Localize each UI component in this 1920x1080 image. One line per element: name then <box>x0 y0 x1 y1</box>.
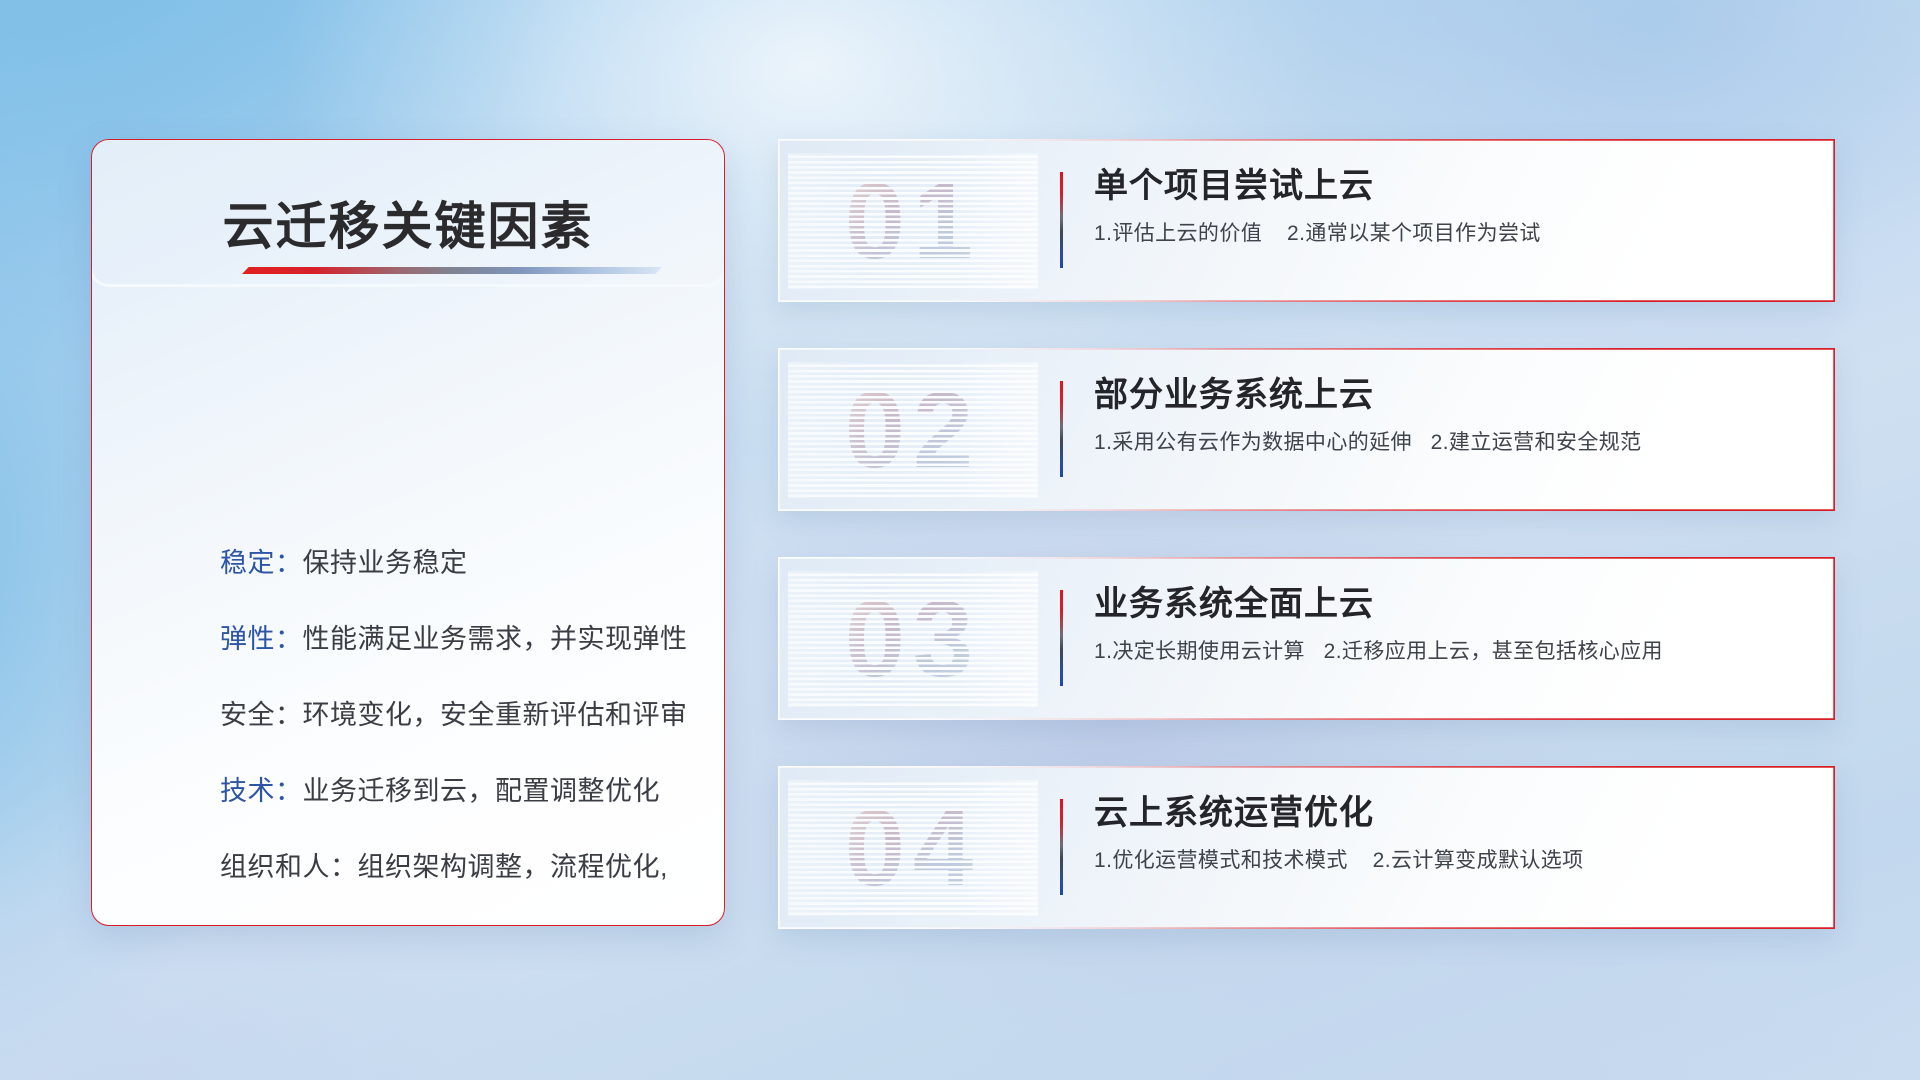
step-title: 云上系统运营优化 <box>1094 792 1809 835</box>
key-factor-label: 组织和人： <box>220 852 358 882</box>
key-factor-value: 业务迁移到云，配置调整优化 <box>303 776 661 806</box>
step-card[interactable]: 0404云上系统运营优化1.优化运营模式和技术模式 2.云计算变成默认选项 <box>778 766 1835 929</box>
step-number-tint: 01 <box>788 153 1038 289</box>
step-number-tint: 02 <box>788 362 1038 498</box>
title-underline-rule <box>242 267 662 274</box>
key-factor-item: 组织和人：组织架构调整，流程优化, <box>220 829 684 905</box>
key-factor-label: 技术： <box>220 776 303 806</box>
step-card[interactable]: 0303业务系统全面上云1.决定长期使用云计算 2.迁移应用上云，甚至包括核心应… <box>778 557 1835 720</box>
step-body: 单个项目尝试上云1.评估上云的价值 2.通常以某个项目作为尝试 <box>1094 165 1809 247</box>
step-body: 部分业务系统上云1.采用公有云作为数据中心的延伸 2.建立运营和安全规范 <box>1094 374 1809 456</box>
step-description: 1.采用公有云作为数据中心的延伸 2.建立运营和安全规范 <box>1094 429 1809 456</box>
key-factor-value: 组织架构调整，流程优化, <box>358 852 669 882</box>
step-title: 业务系统全面上云 <box>1094 583 1809 626</box>
step-title: 部分业务系统上云 <box>1094 374 1809 417</box>
key-factor-label: 安全： <box>220 700 303 730</box>
panel-title: 云迁移关键因素 <box>92 185 724 259</box>
key-factors-panel: 云迁移关键因素 稳定：保持业务稳定弹性：性能满足业务需求，并实现弹性安全：环境变… <box>91 139 725 926</box>
step-body: 云上系统运营优化1.优化运营模式和技术模式 2.云计算变成默认选项 <box>1094 792 1809 874</box>
key-factor-item: 稳定：保持业务稳定 <box>220 525 684 601</box>
step-number-tint: 03 <box>788 571 1038 707</box>
step-card[interactable]: 0202部分业务系统上云1.采用公有云作为数据中心的延伸 2.建立运营和安全规范 <box>778 348 1835 511</box>
step-description: 1.决定长期使用云计算 2.迁移应用上云，甚至包括核心应用 <box>1094 638 1809 665</box>
step-divider-bar <box>1060 172 1063 268</box>
step-divider-bar <box>1060 590 1063 686</box>
key-factor-value: 性能满足业务需求，并实现弹性 <box>303 624 688 654</box>
step-description: 1.评估上云的价值 2.通常以某个项目作为尝试 <box>1094 220 1809 247</box>
step-number-badge: 0303 <box>788 571 1038 707</box>
step-number-badge: 0202 <box>788 362 1038 498</box>
migration-steps-list: 0101单个项目尝试上云1.评估上云的价值 2.通常以某个项目作为尝试0202部… <box>778 139 1835 929</box>
key-factor-item: 安全：环境变化，安全重新评估和评审 <box>220 677 684 753</box>
step-body: 业务系统全面上云1.决定长期使用云计算 2.迁移应用上云，甚至包括核心应用 <box>1094 583 1809 665</box>
key-factor-item: 人员技能培训 <box>220 905 684 926</box>
key-factor-label: 稳定： <box>220 548 303 578</box>
key-factor-label: 弹性： <box>220 624 303 654</box>
key-factor-item: 技术：业务迁移到云，配置调整优化 <box>220 753 684 829</box>
key-factor-value: 保持业务稳定 <box>303 548 468 578</box>
step-number-badge: 0404 <box>788 780 1038 916</box>
step-title: 单个项目尝试上云 <box>1094 165 1809 208</box>
step-card[interactable]: 0101单个项目尝试上云1.评估上云的价值 2.通常以某个项目作为尝试 <box>778 139 1835 302</box>
step-divider-bar <box>1060 381 1063 477</box>
step-description: 1.优化运营模式和技术模式 2.云计算变成默认选项 <box>1094 847 1809 874</box>
step-number-tint: 04 <box>788 780 1038 916</box>
key-factors-list: 稳定：保持业务稳定弹性：性能满足业务需求，并实现弹性安全：环境变化，安全重新评估… <box>220 525 684 926</box>
step-number-badge: 0101 <box>788 153 1038 289</box>
key-factor-value: 环境变化，安全重新评估和评审 <box>303 700 688 730</box>
step-divider-bar <box>1060 799 1063 895</box>
key-factor-item: 弹性：性能满足业务需求，并实现弹性 <box>220 601 684 677</box>
